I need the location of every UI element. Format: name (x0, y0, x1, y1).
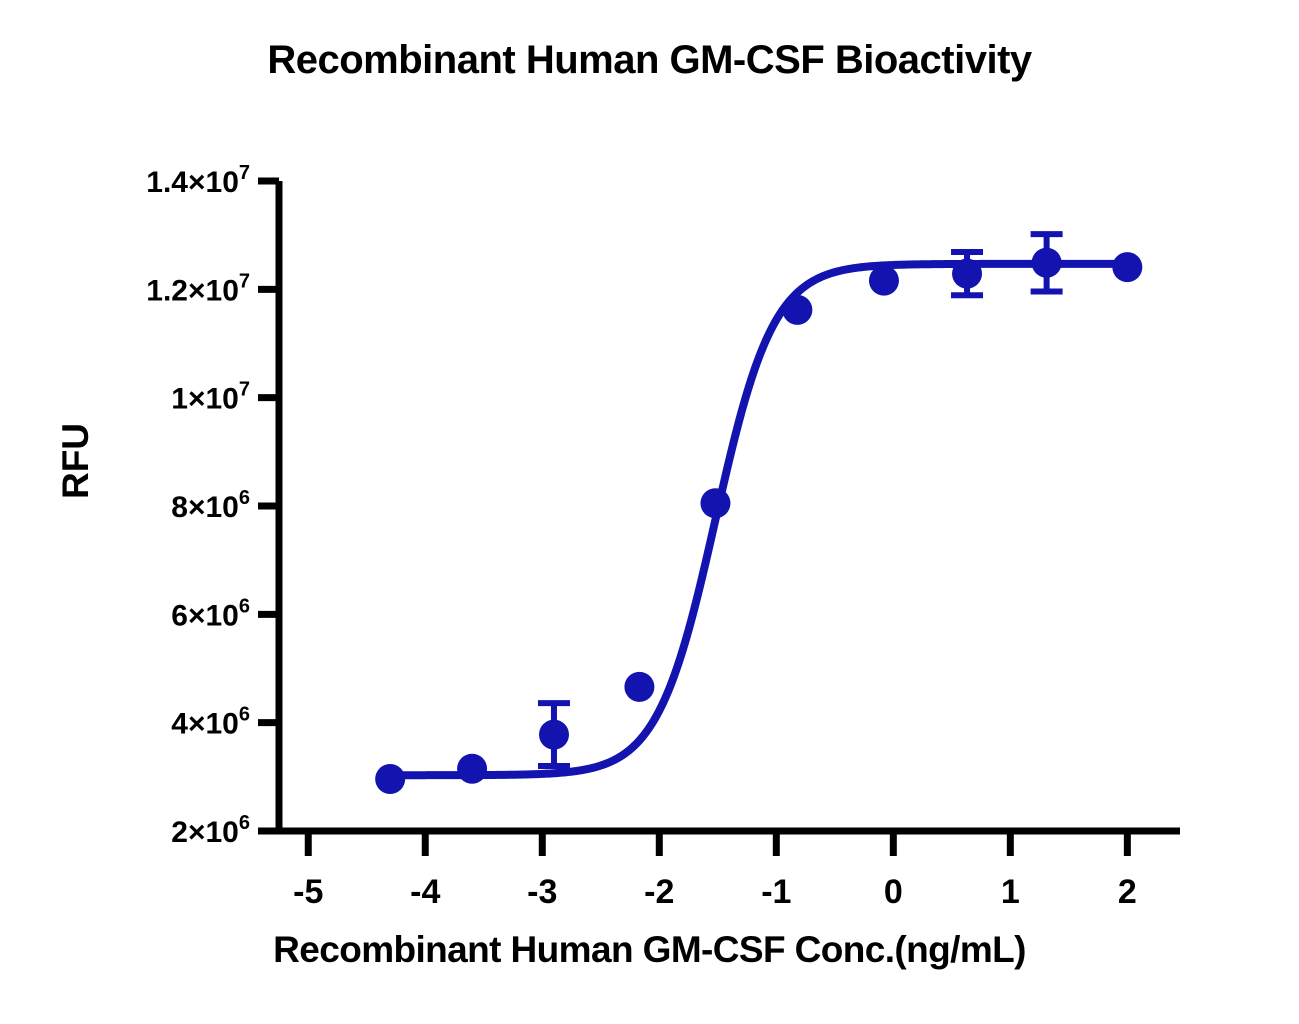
y-tick-label: 1×107 (171, 379, 250, 416)
y-tick-label: 2×106 (171, 812, 250, 849)
y-tick-label: 1.4×107 (146, 162, 250, 199)
x-axis-title: Recombinant Human GM-CSF Conc.(ng/mL) (0, 929, 1299, 971)
x-axis-ticks: -5-4-3-2-1012 (293, 831, 1137, 911)
data-point-marker (457, 754, 487, 784)
x-tick-label: -4 (410, 873, 440, 911)
data-point-marker (539, 720, 569, 750)
data-point-marker (869, 266, 899, 296)
data-points (375, 248, 1142, 794)
y-tick-label: 1.2×107 (146, 270, 250, 307)
data-point-marker (700, 488, 730, 518)
data-point-marker (952, 259, 982, 289)
data-point-marker (624, 672, 654, 702)
y-tick-label: 4×106 (171, 704, 250, 741)
y-tick-label: 8×106 (171, 487, 250, 524)
x-tick-label: 1 (1001, 873, 1020, 911)
chart-figure: Recombinant Human GM-CSF Bioactivity 2×1… (0, 0, 1299, 1024)
plot-area: 2×1064×1066×1068×1061×1071.2×1071.4×107 … (0, 0, 1299, 1024)
y-axis-title: RFU (55, 401, 97, 521)
data-point-marker (375, 764, 405, 794)
fit-curve-path (390, 264, 1127, 775)
y-tick-label: 6×106 (171, 595, 250, 632)
x-tick-label: -5 (293, 873, 323, 911)
fit-curve (390, 264, 1127, 775)
x-tick-label: -1 (761, 873, 791, 911)
data-point-marker (782, 295, 812, 325)
x-tick-label: -3 (527, 873, 557, 911)
x-tick-label: 0 (884, 873, 903, 911)
x-tick-label: -2 (644, 873, 674, 911)
y-axis-ticks: 2×1064×1066×1068×1061×1071.2×1071.4×107 (146, 162, 279, 849)
data-point-marker (1032, 248, 1062, 278)
x-tick-label: 2 (1118, 873, 1137, 911)
data-point-marker (1112, 252, 1142, 282)
